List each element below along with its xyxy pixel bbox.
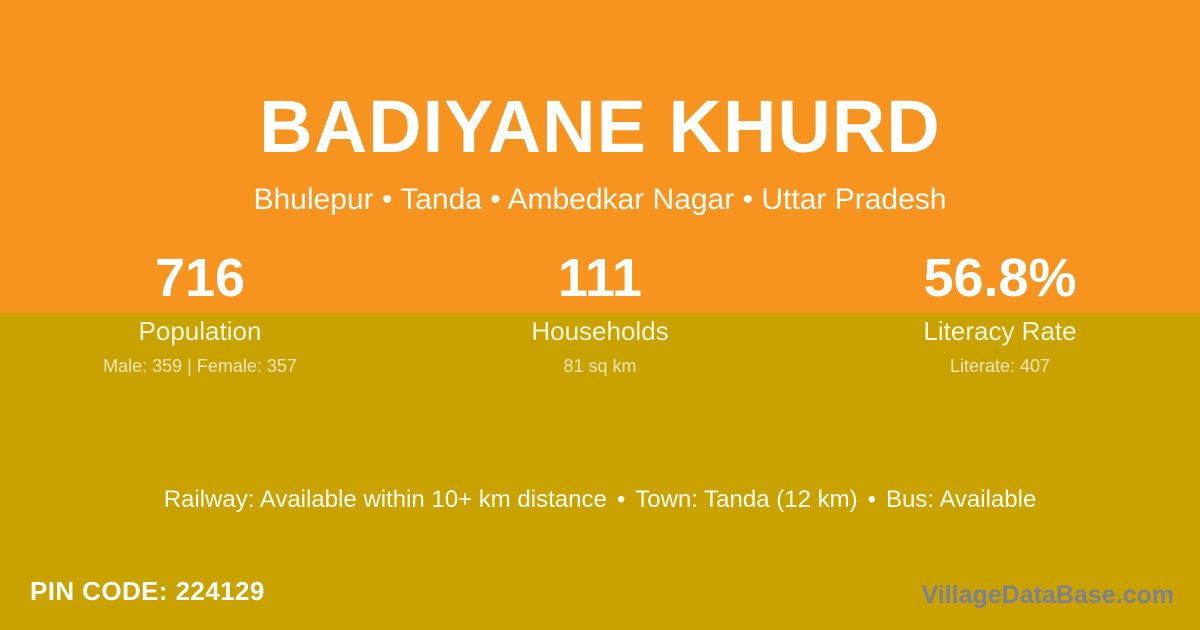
stat-subtext: Literate: 407 bbox=[950, 355, 1050, 377]
bullet-separator-icon: • bbox=[858, 484, 886, 516]
location-breadcrumb: Bhulepur • Tanda • Ambedkar Nagar • Utta… bbox=[0, 181, 1200, 219]
stat-population: 716 Population Male: 359 | Female: 357 bbox=[0, 243, 400, 388]
infrastructure-line: Railway: Available within 10+ km distanc… bbox=[0, 484, 1200, 516]
stat-value: 716 bbox=[155, 243, 245, 313]
stat-literacy-rate: 56.8% Literacy Rate Literate: 407 bbox=[800, 243, 1200, 388]
stat-label: Population bbox=[139, 315, 262, 347]
pin-code-label: PIN CODE: 224129 bbox=[30, 574, 265, 608]
infra-bus: Bus: Available bbox=[886, 486, 1036, 513]
page-title: BADIYANE KHURD bbox=[0, 84, 1200, 170]
stat-value: 56.8% bbox=[923, 243, 1076, 313]
stat-label: Households bbox=[531, 315, 668, 347]
stat-label: Literacy Rate bbox=[923, 315, 1076, 347]
stats-row: 716 Population Male: 359 | Female: 357 1… bbox=[0, 243, 1200, 388]
infra-railway: Railway: Available within 10+ km distanc… bbox=[164, 486, 607, 513]
village-info-card: BADIYANE KHURD Bhulepur • Tanda • Ambedk… bbox=[0, 0, 1200, 630]
site-watermark: VillageDataBase.com bbox=[922, 578, 1174, 612]
stat-subtext: Male: 359 | Female: 357 bbox=[103, 355, 297, 377]
stat-subtext: 81 sq km bbox=[563, 355, 636, 377]
infra-town: Town: Tanda (12 km) bbox=[635, 486, 857, 513]
bullet-separator-icon: • bbox=[607, 484, 635, 516]
stat-households: 111 Households 81 sq km bbox=[400, 243, 800, 388]
stat-value: 111 bbox=[558, 243, 642, 313]
